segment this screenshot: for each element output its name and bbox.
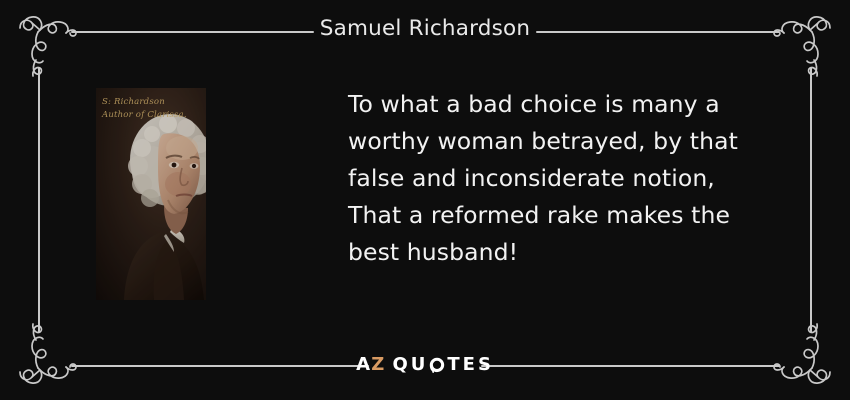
- brand-logo-inner[interactable]: AZQU TES: [356, 352, 494, 378]
- portrait-inscription: S: Richardson Author of Clarissa.: [102, 96, 202, 122]
- author-name: Samuel Richardson: [0, 16, 850, 41]
- quote-card: Samuel Richardson: [0, 0, 850, 400]
- quote-text: To what a bad choice is many a worthy wo…: [348, 86, 778, 271]
- quote-line: best husband!: [348, 234, 778, 271]
- brand-logo[interactable]: AZQU TES: [0, 352, 850, 380]
- brand-letter-z: Z: [371, 354, 385, 375]
- portrait-inscription-line-1: S: Richardson: [102, 96, 202, 109]
- brand-letter-a: A: [356, 354, 371, 375]
- portrait-inscription-line-2: Author of Clarissa.: [102, 109, 202, 122]
- quote-line: To what a bad choice is many a: [348, 86, 778, 123]
- quote-line: worthy woman betrayed, by that: [348, 123, 778, 160]
- brand-word-start: QU: [392, 354, 428, 375]
- speech-bubble-icon: [429, 357, 445, 373]
- brand-word-end: TES: [447, 354, 494, 375]
- author-portrait: S: Richardson Author of Clarissa.: [96, 88, 206, 300]
- quote-line: false and inconsiderate notion,: [348, 160, 778, 197]
- quote-line: That a reformed rake makes the: [348, 197, 778, 234]
